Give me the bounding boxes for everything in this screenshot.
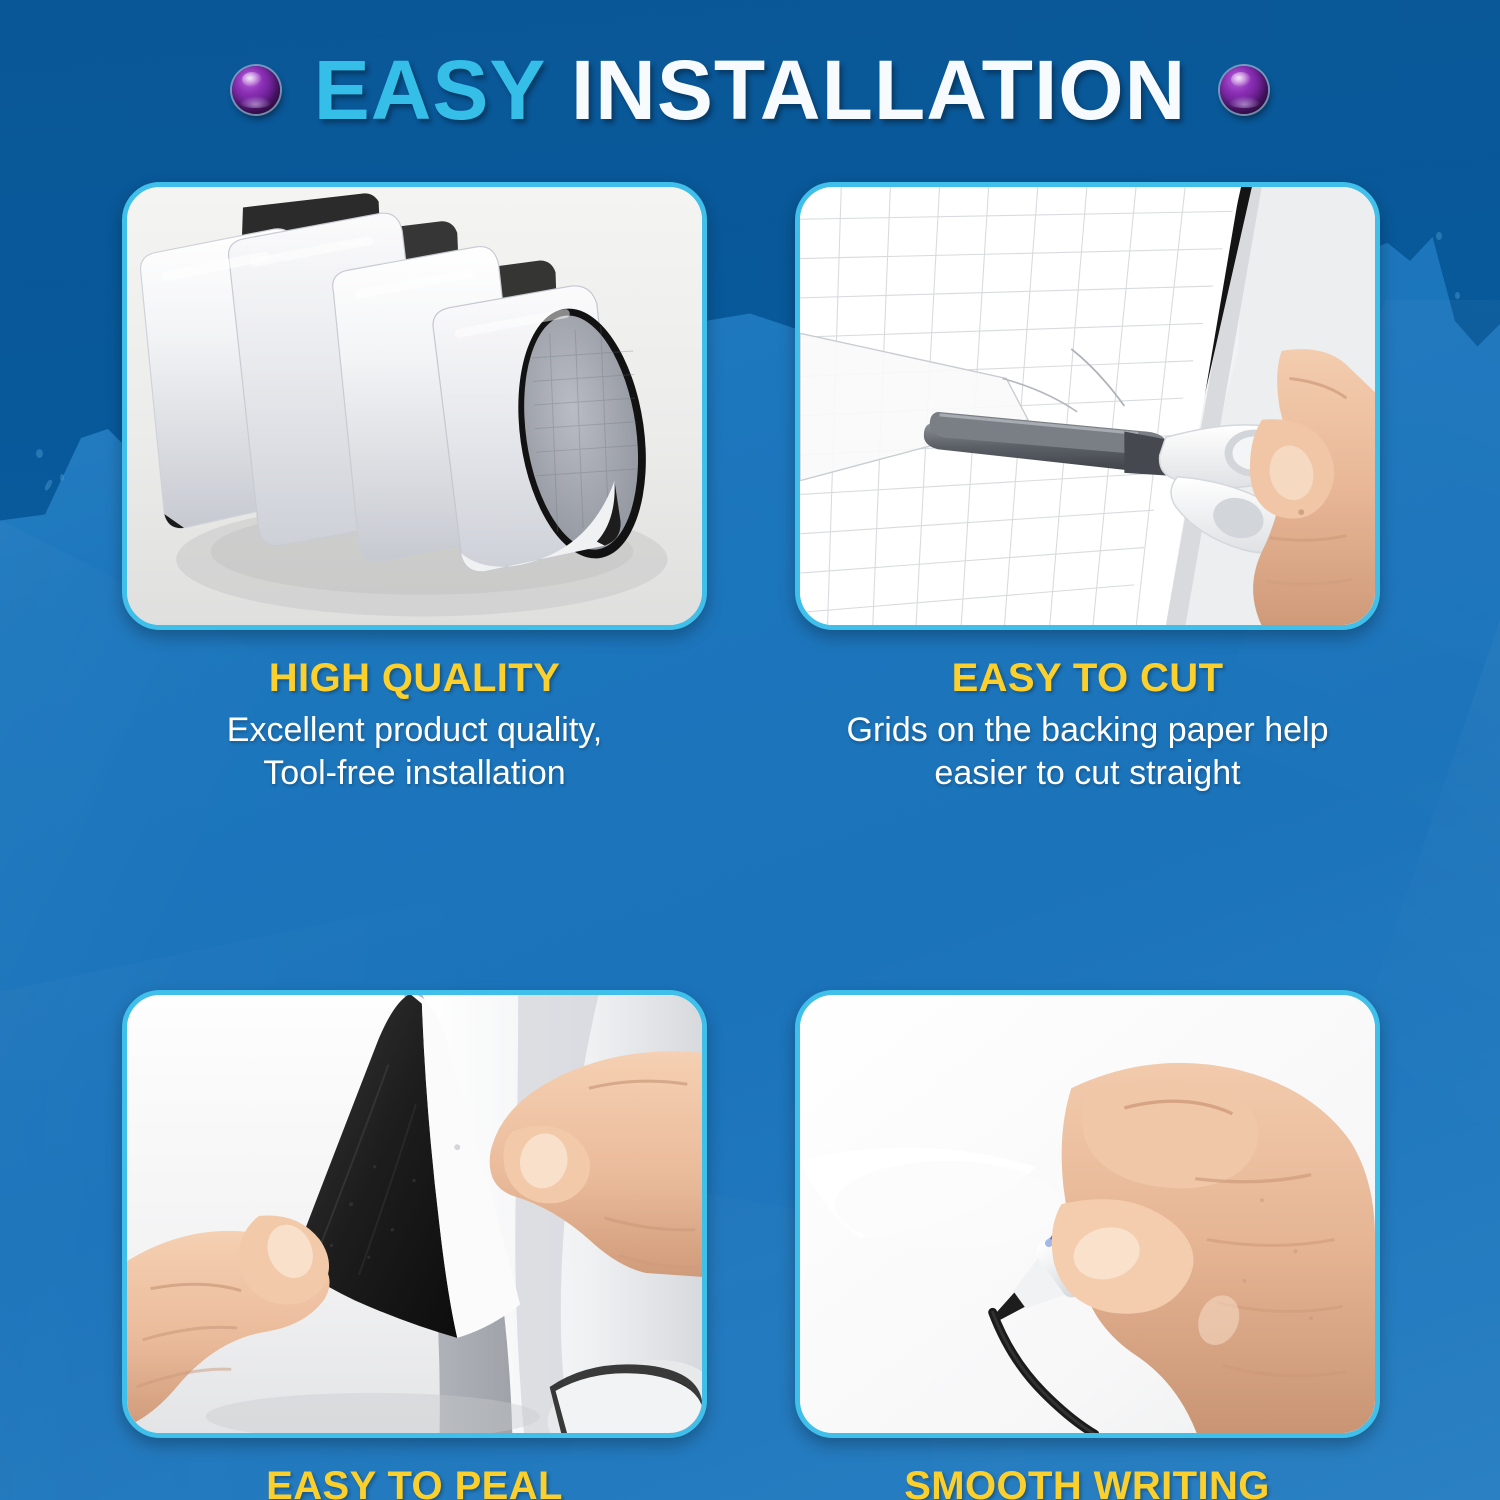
photo-peeling-backing <box>122 990 707 1438</box>
rolled-whiteboard-illustration <box>127 187 702 625</box>
caption-high-quality: HIGH QUALITY Excellent product quality, … <box>122 630 707 795</box>
pushpin-icon-left <box>232 66 280 114</box>
feature-body: Grids on the backing paper help easier t… <box>795 709 1380 795</box>
pushpin-icon-right <box>1220 66 1268 114</box>
feature-heading: EASY TO CUT <box>795 656 1380 701</box>
feature-heading: HIGH QUALITY <box>122 656 707 701</box>
feature-heading: SMOOTH WRITING <box>757 1464 1417 1500</box>
caption-easy-to-cut: EASY TO CUT Grids on the backing paper h… <box>795 630 1380 795</box>
feature-card-smooth-writing: JIAWEI JW-526 No.1 <box>795 990 1380 1500</box>
title-accent-word: EASY <box>314 43 547 137</box>
scissors-cutting-illustration <box>800 187 1375 625</box>
caption-smooth-writing: SMOOTH WRITING High quality Whiteboard P… <box>757 1438 1417 1500</box>
feature-card-easy-to-cut: EASY TO CUT Grids on the backing paper h… <box>795 182 1380 795</box>
title-main-word: INSTALLATION <box>571 43 1186 137</box>
page-title: EASY INSTALLATION <box>0 34 1500 146</box>
feature-card-high-quality: HIGH QUALITY Excellent product quality, … <box>122 182 707 795</box>
marker-writing-illustration: JIAWEI JW-526 No.1 <box>800 995 1375 1433</box>
feature-card-easy-to-peal: EASY TO PEAL Strong self-adhesive backin… <box>122 990 707 1500</box>
peeling-illustration <box>127 995 702 1433</box>
feature-grid: HIGH QUALITY Excellent product quality, … <box>122 182 1380 1500</box>
photo-rolled-sheet <box>122 182 707 630</box>
caption-easy-to-peal: EASY TO PEAL Strong self-adhesive backin… <box>122 1438 707 1500</box>
feature-heading: EASY TO PEAL <box>122 1464 707 1500</box>
photo-cutting-with-scissors <box>795 182 1380 630</box>
photo-writing-with-marker: JIAWEI JW-526 No.1 <box>795 990 1380 1438</box>
feature-body: Excellent product quality, Tool-free ins… <box>122 709 707 795</box>
product-infographic: EASY INSTALLATION <box>0 0 1500 1500</box>
